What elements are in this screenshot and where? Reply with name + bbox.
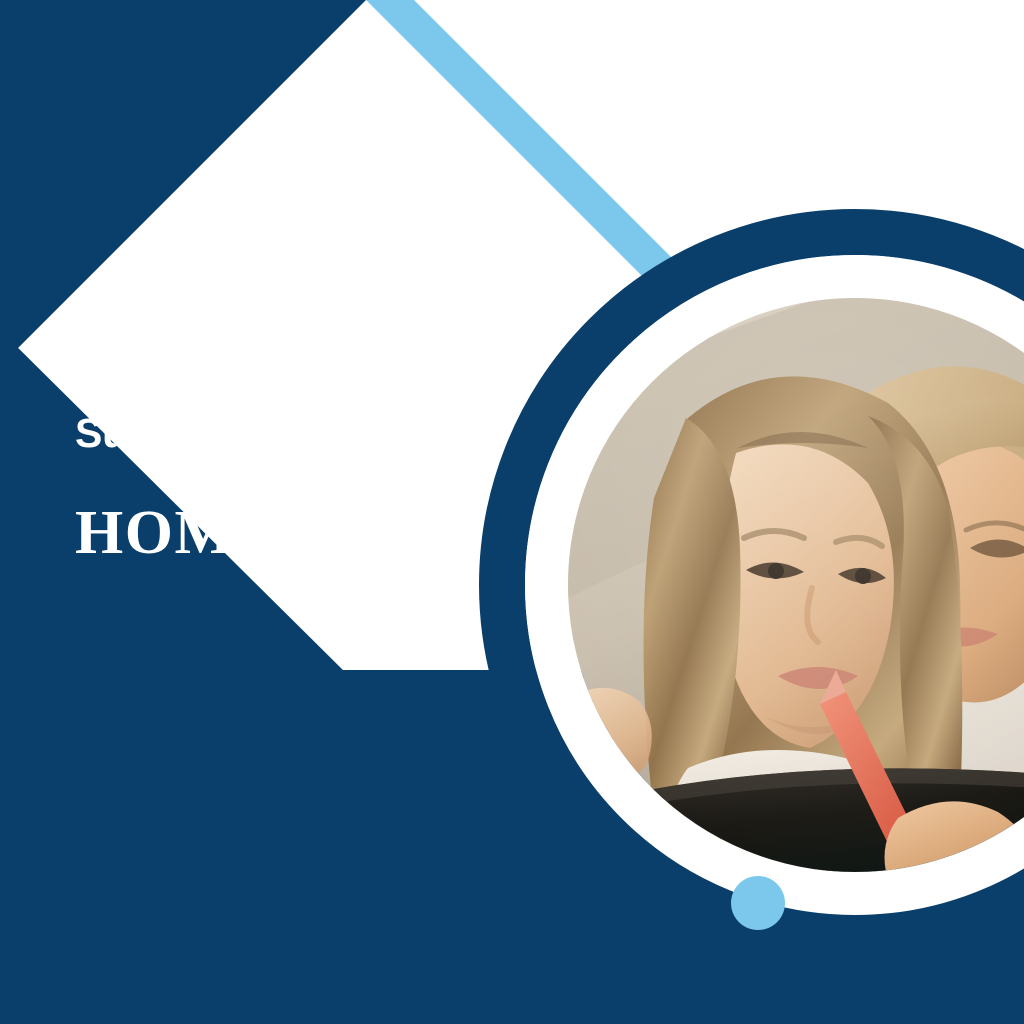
headline-line-2: Supporting DLD at (75, 410, 434, 456)
slide-canvas: Identifying and Supporting DLD at HOME (0, 0, 1024, 1024)
headline-emphasis: HOME (75, 464, 525, 564)
headline-main: Identifying and Supporting DLD at (75, 345, 525, 464)
headline-block: Identifying and Supporting DLD at HOME (75, 345, 525, 564)
headline-line-1: Identifying and (75, 351, 364, 397)
light-blue-accent-dot (731, 876, 785, 930)
